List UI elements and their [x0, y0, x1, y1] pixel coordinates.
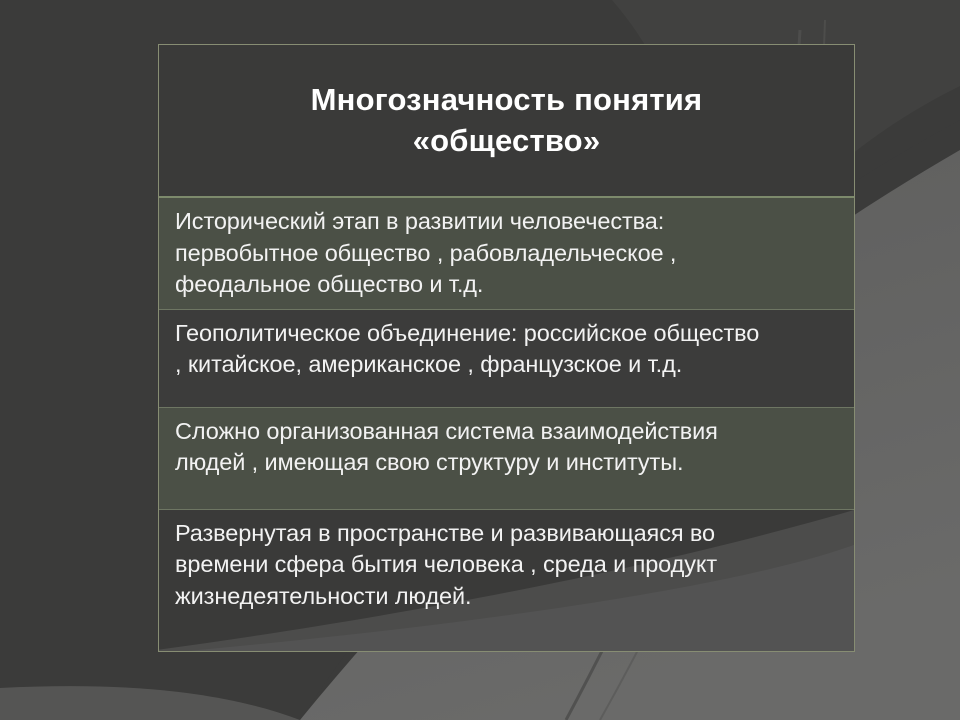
page-title: Многозначность понятия «общество» [287, 80, 727, 162]
table-row: Развернутая в пространстве и развивающая… [159, 510, 854, 651]
definition-text-4: Развернутая в пространстве и развивающая… [175, 518, 717, 613]
presentation-slide: Многозначность понятия «общество» Истори… [0, 0, 960, 720]
definition-text-1: Исторический этап в развитии человечеств… [175, 206, 676, 301]
table-row: Геополитическое объединение: российское … [159, 310, 854, 408]
table-header-cell: Многозначность понятия «общество» [159, 45, 854, 198]
definition-text-3: Сложно организованная система взаимодейс… [175, 416, 718, 479]
table-row: Сложно организованная система взаимодейс… [159, 408, 854, 510]
definition-text-2: Геополитическое объединение: российское … [175, 318, 759, 381]
concept-definitions-table: Многозначность понятия «общество» Истори… [158, 44, 855, 652]
table-row: Исторический этап в развитии человечеств… [159, 198, 854, 310]
